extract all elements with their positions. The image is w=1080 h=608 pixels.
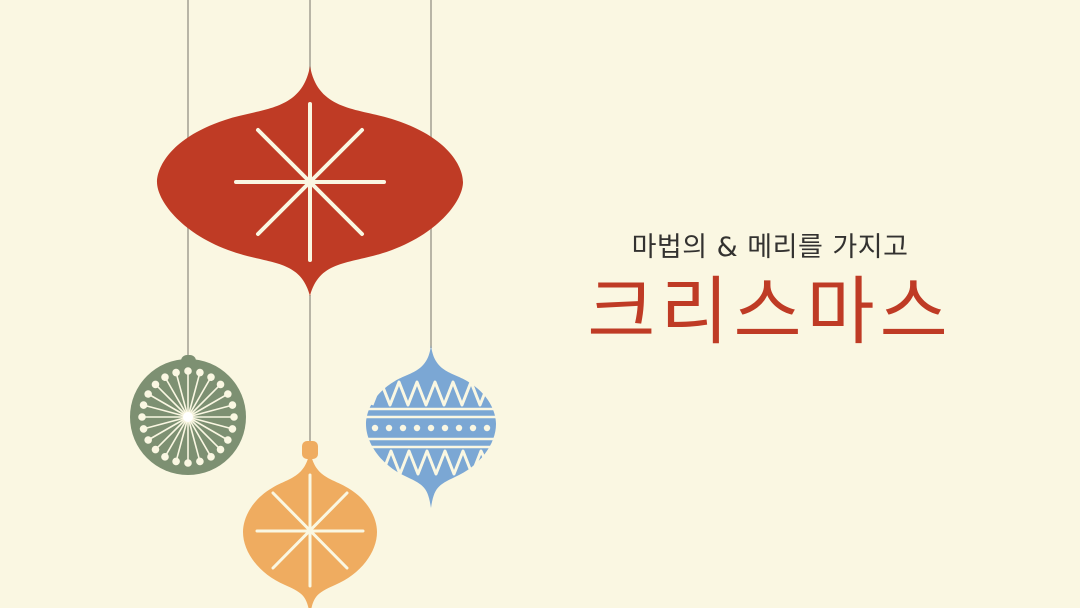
greeting-subtitle: 마법의 & 메리를 가지고 bbox=[520, 232, 1020, 264]
green-round-ornament bbox=[130, 355, 246, 475]
orange-ornament-starburst bbox=[257, 475, 363, 586]
christmas-greeting-slide: 마법의 & 메리를 가지고 크리스마스 bbox=[0, 0, 1080, 608]
orange-onion-ornament bbox=[243, 441, 377, 608]
green-ornament-radial-burst bbox=[139, 368, 237, 466]
blue-dot-row bbox=[372, 425, 490, 431]
red-onion-ornament bbox=[157, 66, 463, 296]
greeting-text-block: 마법의 & 메리를 가지고 크리스마스 bbox=[520, 232, 1020, 355]
greeting-title: 크리스마스 bbox=[520, 270, 1020, 355]
blue-onion-ornament bbox=[366, 345, 496, 508]
green-ornament-center-glow bbox=[183, 412, 193, 422]
